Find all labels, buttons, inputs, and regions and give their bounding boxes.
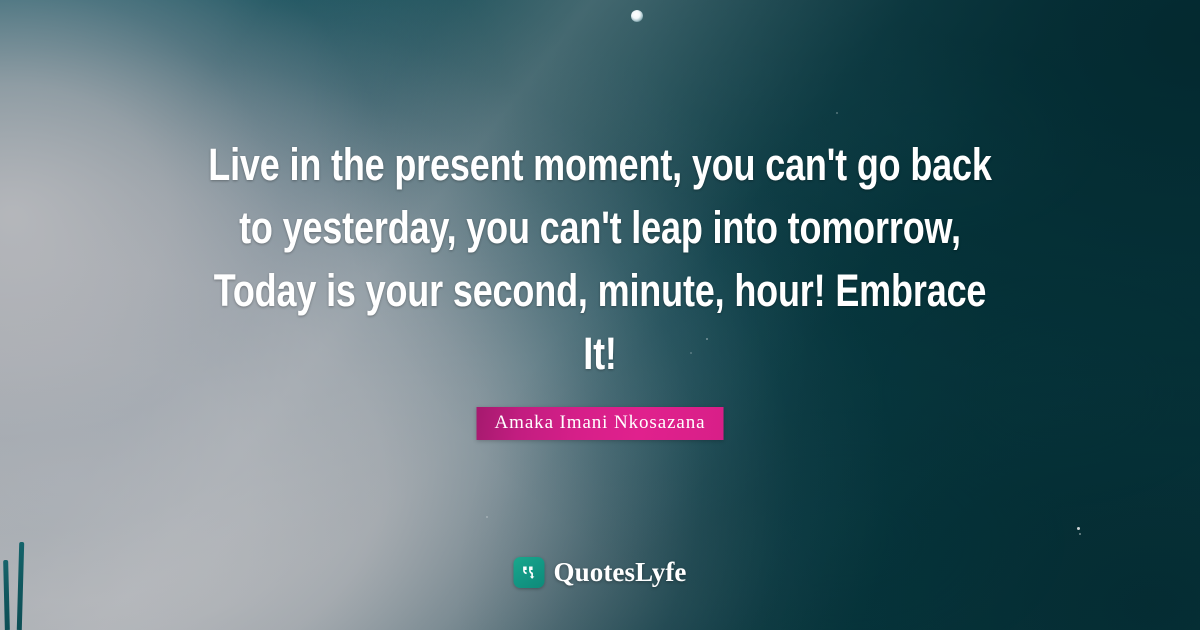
reed-blade-icon [3, 560, 10, 630]
star-speck-icon [836, 112, 838, 114]
quote-line: Live in the present moment, you can't go… [120, 133, 1080, 196]
author-name-badge[interactable]: Amaka Imani Nkosazana [477, 407, 724, 440]
quote-mark-icon [514, 557, 545, 588]
moon-glow-icon [631, 10, 643, 22]
brand-logo[interactable]: QuotesLyfe [514, 557, 687, 588]
quote-line: It! [120, 322, 1080, 385]
quote-text-block: Live in the present moment, you can't go… [0, 133, 1200, 385]
star-speck-icon [1079, 533, 1081, 535]
brand-wordmark: QuotesLyfe [554, 557, 687, 588]
quote-line: to yesterday, you can't leap into tomorr… [120, 196, 1080, 259]
reed-blade-icon [17, 542, 24, 630]
quote-card: Live in the present moment, you can't go… [0, 0, 1200, 630]
star-speck-icon [1077, 527, 1080, 530]
star-speck-icon [486, 516, 488, 518]
quote-line: Today is your second, minute, hour! Embr… [120, 259, 1080, 322]
